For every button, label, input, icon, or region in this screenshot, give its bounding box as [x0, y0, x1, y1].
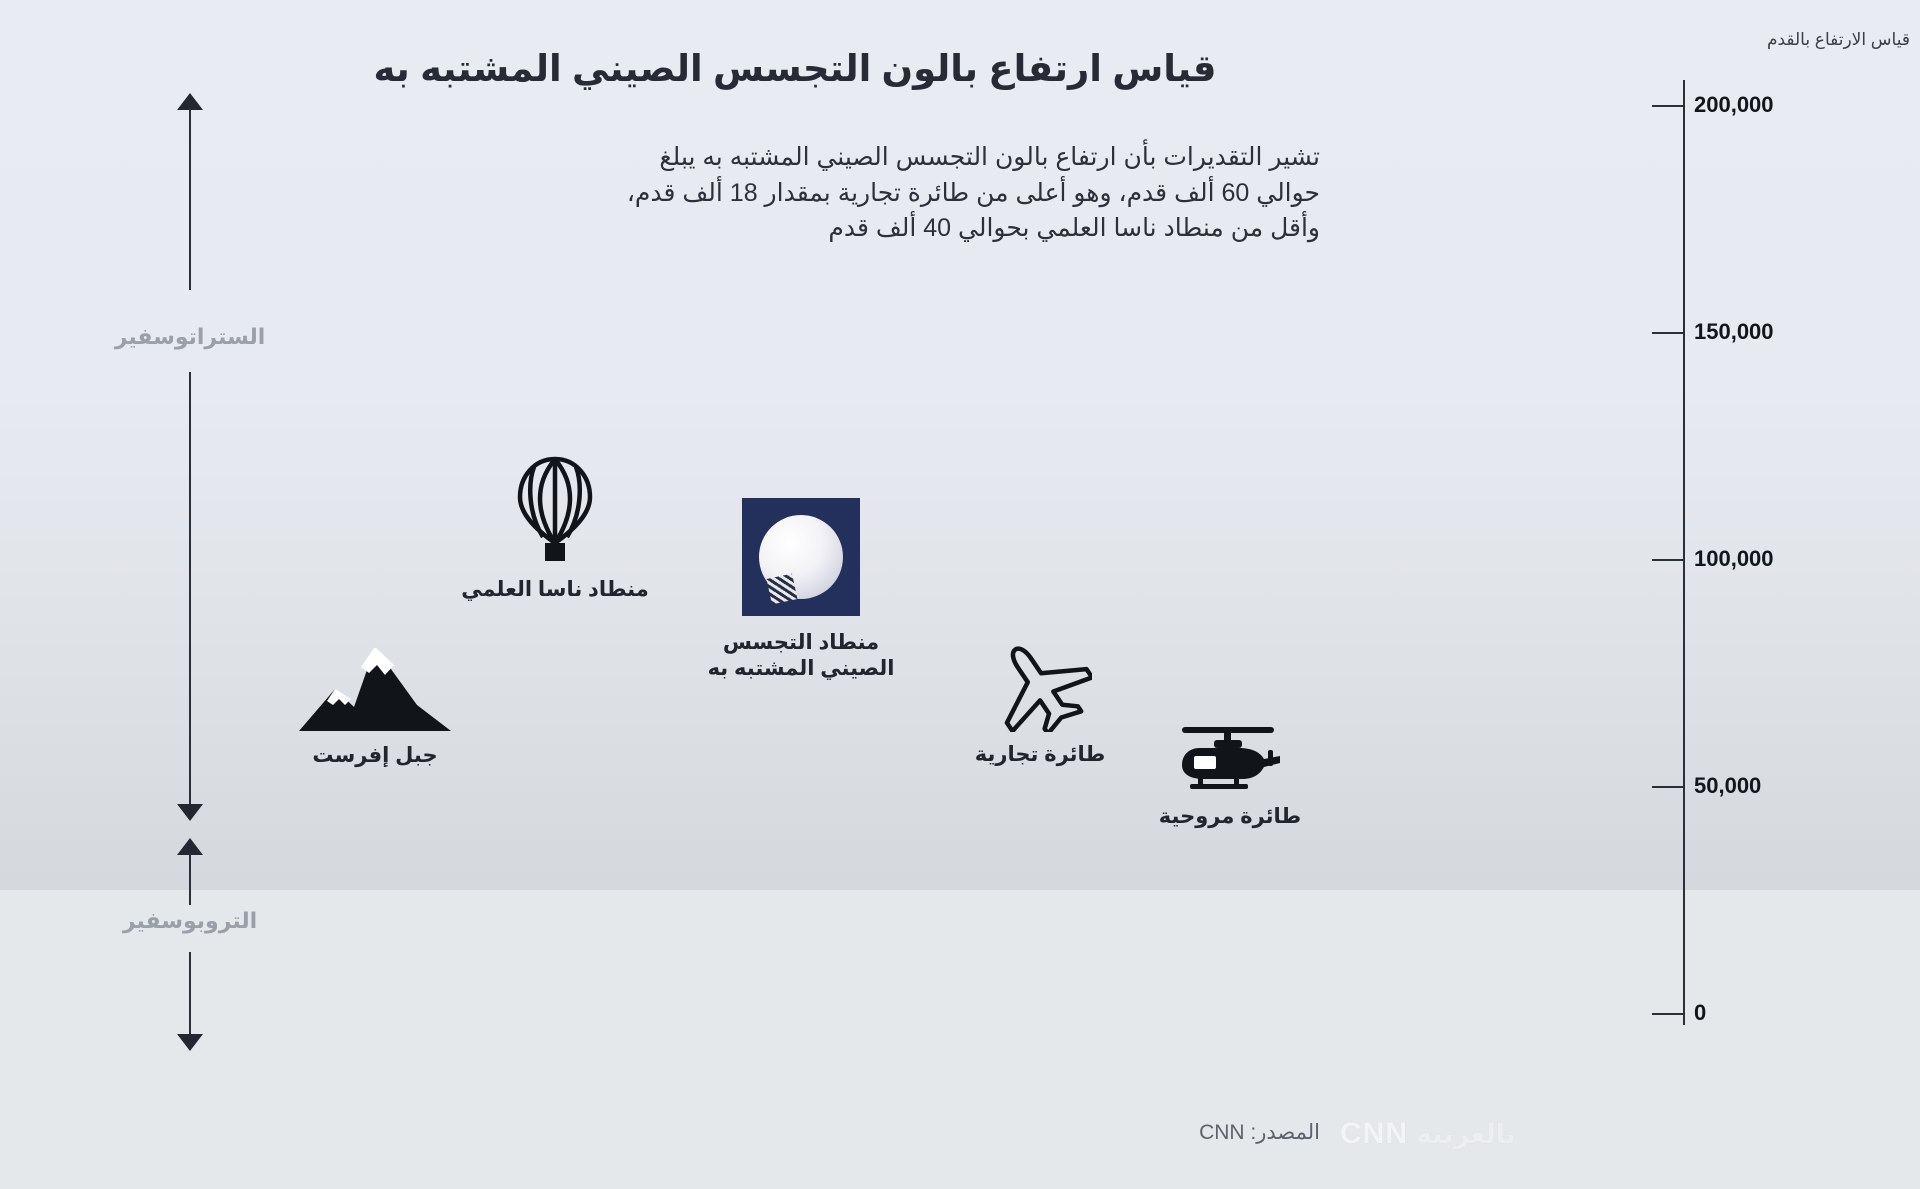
troposphere-arrow-upper [189, 853, 191, 905]
item-label-nasa-balloon: منطاد ناسا العلمي [455, 577, 655, 603]
airplane-icon [930, 640, 1150, 732]
logo-arabic-text: بالعربية [1416, 1119, 1516, 1150]
troposphere-band [0, 890, 1920, 1189]
troposphere-arrow-lower [189, 952, 191, 1034]
cnn-arabic-logo: بالعربية CNN [1340, 1107, 1530, 1161]
hot-air-balloon-icon [455, 455, 655, 565]
page-title: قياس ارتفاع بالون التجسس الصيني المشتبه … [0, 46, 1590, 92]
axis-tick [1652, 105, 1684, 107]
axis-tick-label: 150,000 [1694, 319, 1774, 345]
item-airplane[interactable]: طائرة تجارية [930, 640, 1150, 768]
axis-tick [1652, 332, 1684, 334]
layer-label-troposphere: التروبوسفير [75, 908, 305, 934]
axis-title: قياس الارتفاع بالقدم [1700, 30, 1910, 50]
axis-tick-label: 100,000 [1694, 546, 1774, 572]
item-everest[interactable]: جبل إفرست [265, 645, 485, 769]
infographic-canvas: قياس ارتفاع بالون التجسس الصيني المشتبه … [0, 0, 1920, 1189]
item-label-airplane: طائرة تجارية [930, 742, 1150, 768]
axis-tick [1652, 559, 1684, 561]
axis-tick-label: 50,000 [1694, 773, 1761, 799]
axis-tick [1652, 1013, 1684, 1015]
item-spy-balloon[interactable]: منطاد التجسس الصيني المشتبه به [691, 498, 911, 683]
axis-tick [1652, 786, 1684, 788]
item-label-spy-balloon: منطاد التجسس الصيني المشتبه به [691, 630, 911, 683]
page-subtitle: تشير التقديرات بأن ارتفاع بالون التجسس ا… [600, 140, 1320, 247]
stratosphere-arrow-upper [189, 108, 191, 290]
spy-balloon-image [742, 498, 860, 616]
item-label-everest: جبل إفرست [265, 743, 485, 769]
layer-label-stratosphere: الستراتوسفير [75, 324, 305, 350]
axis-tick-label: 200,000 [1694, 92, 1774, 118]
logo-cnn-text: CNN [1340, 1117, 1408, 1151]
mountain-icon [265, 645, 485, 731]
item-label-helicopter: طائرة مروحية [1120, 804, 1340, 830]
troposphere-arrow-bottom-head [177, 1034, 203, 1051]
spy-balloon-photo [691, 498, 911, 616]
helicopter-icon [1120, 722, 1340, 796]
stratosphere-arrow-bottom-head [177, 804, 203, 821]
item-nasa-balloon[interactable]: منطاد ناسا العلمي [455, 455, 655, 603]
y-axis-line [1683, 80, 1685, 1025]
source-credit: المصدر: CNN [1199, 1120, 1320, 1145]
stratosphere-arrow-lower [189, 372, 191, 804]
balloon-payload [767, 574, 798, 605]
axis-tick-label: 0 [1694, 1000, 1706, 1026]
item-helicopter[interactable]: طائرة مروحية [1120, 722, 1340, 830]
